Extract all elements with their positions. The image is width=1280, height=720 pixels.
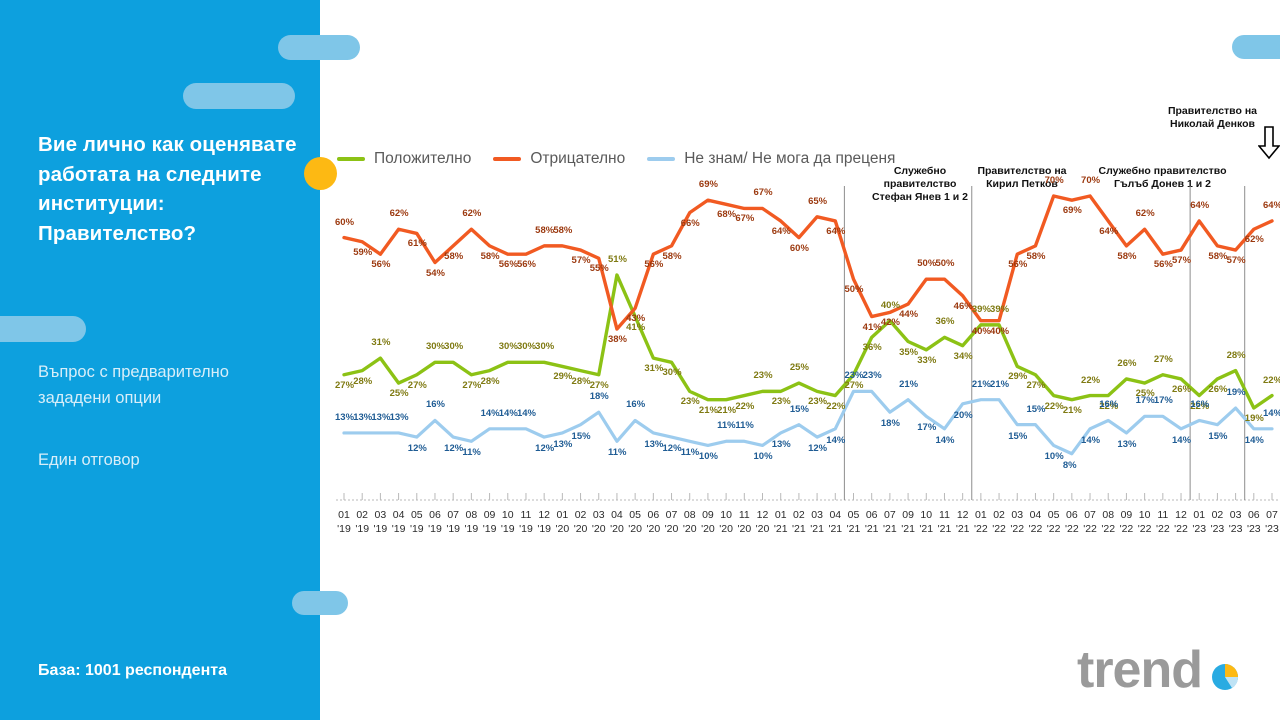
data-label-neg: 60% [335,217,354,228]
data-label-dk: 15% [790,404,809,415]
data-label-neg: 67% [735,213,754,224]
data-label-neg: 58% [553,225,572,236]
data-label-pos: 36% [863,342,882,353]
data-label-pos: 34% [954,351,973,362]
data-label-neg: 61% [408,238,427,249]
data-label-dk: 23% [844,370,863,381]
data-label-neg: 58% [444,251,463,262]
data-label-neg: 40% [990,326,1009,337]
data-label-dk: 16% [626,399,645,410]
data-label-dk: 13% [371,412,390,423]
data-label-dk: 10% [754,451,773,462]
series-line-0 [344,275,1272,408]
data-label-neg: 65% [808,196,827,207]
data-label-pos: 39% [972,304,991,315]
data-label-neg: 66% [681,218,700,229]
data-label-neg: 64% [1099,226,1118,237]
data-label-dk: 13% [335,412,354,423]
data-label-pos: 35% [899,347,918,358]
data-label-neg: 68% [717,209,736,220]
data-label-neg: 56% [644,259,663,270]
legend-item-positive: Положително [337,150,471,168]
data-label-neg: 50% [935,258,954,269]
legend-label-negative: Отрицателно [530,150,625,168]
data-label-pos: 29% [553,371,572,382]
data-label-pos: 31% [644,363,663,374]
data-label-neg: 58% [1208,251,1227,262]
data-label-pos: 23% [754,370,773,381]
data-label-pos: 26% [1208,384,1227,395]
data-label-pos: 28% [1227,350,1246,361]
data-label-pos: 36% [935,316,954,327]
data-label-neg: 38% [608,334,627,345]
data-label-neg: 57% [1227,255,1246,266]
svg-text:trend: trend [1077,641,1202,699]
data-label-pos: 27% [1026,380,1045,391]
legend-swatch-dontknow [647,157,675,161]
data-label-pos: 21% [699,405,718,416]
data-label-dk: 15% [1208,431,1227,442]
data-label-pos: 27% [335,380,354,391]
data-label-neg: 58% [481,251,500,262]
data-label-dk: 16% [1099,399,1118,410]
page-title: Вие лично как оценявате работата на след… [38,130,303,249]
data-label-pos: 21% [717,405,736,416]
down-arrow-icon [1258,126,1280,160]
data-label-neg: 54% [426,268,445,279]
data-label-pos: 27% [844,380,863,391]
data-label-neg: 70% [1081,175,1100,186]
data-label-pos: 22% [1263,375,1280,386]
data-label-neg: 62% [1245,234,1264,245]
data-label-dk: 14% [499,408,518,419]
data-label-pos: 21% [1063,405,1082,416]
legend-label-positive: Положително [374,150,471,168]
data-label-neg: 58% [535,225,554,236]
data-label-pos: 25% [390,388,409,399]
data-label-neg: 69% [1063,205,1082,216]
data-label-dk: 17% [917,422,936,433]
data-label-pos: 27% [408,380,427,391]
data-label-neg: 58% [663,251,682,262]
data-label-neg: 56% [517,259,536,270]
trend-logo: trend [1075,640,1260,702]
data-label-dk: 20% [954,410,973,421]
data-label-dk: 11% [462,447,481,458]
data-label-dk: 12% [535,443,554,454]
legend-item-dontknow: Не знам/ Не мога да преценя [647,150,895,168]
legend-swatch-positive [337,157,365,161]
data-label-pos: 26% [1117,358,1136,369]
data-label-dk: 17% [1136,395,1155,406]
data-label-pos: 30% [499,341,518,352]
data-label-pos: 22% [735,401,754,412]
legend-item-negative: Отрицателно [493,150,625,168]
data-label-dk: 12% [444,443,463,454]
data-label-neg: 64% [826,226,845,237]
decorative-blob-a [183,83,295,109]
data-label-pos: 30% [426,341,445,352]
data-label-neg: 55% [590,263,609,274]
data-label-dk: 14% [935,435,954,446]
data-label-pos: 28% [353,376,372,387]
data-label-neg: 50% [844,284,863,295]
data-label-dk: 23% [863,370,882,381]
data-label-dk: 10% [1045,451,1064,462]
data-label-neg: 57% [572,255,591,266]
data-label-pos: 33% [917,355,936,366]
data-label-dk: 14% [1081,435,1100,446]
data-label-neg: 40% [972,326,991,337]
data-label-pos: 28% [572,376,591,387]
annotation-government-yanev: Служебно правителство Стефан Янев 1 и 2 [860,165,980,204]
decorative-blob-c [0,316,86,342]
data-label-neg: 64% [772,226,791,237]
data-label-pos: 22% [1045,401,1064,412]
data-label-pos: 28% [481,376,500,387]
data-label-neg: 42% [881,317,900,328]
data-label-dk: 8% [1063,460,1077,471]
data-label-dk: 21% [990,379,1009,390]
data-label-neg: 62% [390,208,409,219]
data-label-neg: 62% [1136,208,1155,219]
data-label-neg: 56% [371,259,390,270]
data-label-dk: 11% [681,447,700,458]
data-label-dk: 12% [663,443,682,454]
data-label-dk: 13% [553,439,572,450]
data-label-dk: 10% [699,451,718,462]
data-label-neg: 58% [1117,251,1136,262]
chart-legend: ПоложителноОтрицателноНе знам/ Не мога д… [337,150,917,168]
data-label-neg: 64% [1190,200,1209,211]
data-label-neg: 56% [1154,259,1173,270]
data-label-neg: 70% [1045,175,1064,186]
data-label-pos: 30% [517,341,536,352]
data-label-neg: 41% [863,322,882,333]
data-label-pos: 31% [371,337,390,348]
data-label-pos: 25% [790,362,809,373]
data-label-dk: 14% [1245,435,1264,446]
data-label-pos: 23% [681,396,700,407]
decorative-blob-e [1232,35,1280,59]
data-label-dk: 14% [481,408,500,419]
question-type-note: Въпрос с предварително зададени опции [38,360,298,411]
data-label-dk: 16% [426,399,445,410]
data-label-dk: 13% [1117,439,1136,450]
data-label-neg: 43% [626,313,645,324]
annotation-government-denkov: Правителство на Николай Денков [1150,105,1275,131]
data-label-dk: 12% [408,443,427,454]
data-label-pos: 39% [990,304,1009,315]
data-label-dk: 18% [881,418,900,429]
data-label-pos: 30% [663,367,682,378]
data-label-dk: 21% [899,379,918,390]
data-label-dk: 19% [1227,387,1246,398]
data-label-pos: 30% [535,341,554,352]
data-label-dk: 11% [735,420,754,431]
data-label-neg: 50% [917,258,936,269]
data-label-dk: 21% [972,379,991,390]
data-label-neg: 57% [1172,255,1191,266]
data-label-pos: 40% [881,300,900,311]
data-label-neg: 46% [954,301,973,312]
data-label-dk: 16% [1190,399,1209,410]
data-label-neg: 56% [499,259,518,270]
decorative-blob-b [278,35,360,60]
data-label-dk: 14% [826,435,845,446]
data-label-dk: 12% [808,443,827,454]
data-label-neg: 59% [353,247,372,258]
data-label-dk: 13% [390,412,409,423]
data-label-dk: 14% [517,408,536,419]
data-label-pos: 26% [1172,384,1191,395]
data-label-neg: 58% [1026,251,1045,262]
data-label-neg: 64% [1263,200,1280,211]
data-label-pos: 27% [1154,354,1173,365]
data-label-dk: 14% [1172,435,1191,446]
x-axis-tick-label: 07'23 [1261,508,1280,536]
data-label-pos: 29% [1008,371,1027,382]
decorative-blob-d [292,591,348,615]
data-label-neg: 67% [754,187,773,198]
data-label-dk: 15% [1026,404,1045,415]
data-label-dk: 14% [1263,408,1280,419]
data-label-pos: 23% [808,396,827,407]
data-label-pos: 23% [772,396,791,407]
data-label-pos: 22% [826,401,845,412]
x-axis-labels: 01'1902'1903'1904'1905'1906'1907'1908'19… [337,508,1277,546]
data-label-neg: 69% [699,179,718,190]
data-label-dk: 17% [1154,395,1173,406]
data-label-pos: 19% [1245,413,1264,424]
decorative-dot-icon [304,157,337,190]
data-label-dk: 15% [1008,431,1027,442]
data-label-neg: 56% [1008,259,1027,270]
data-label-pos: 27% [462,380,481,391]
data-label-dk: 13% [644,439,663,450]
series-line-1 [344,196,1272,329]
answer-type-note: Един отговор [38,448,298,474]
data-label-dk: 11% [608,447,627,458]
data-label-dk: 15% [572,431,591,442]
legend-swatch-negative [493,157,521,161]
data-label-dk: 18% [590,391,609,402]
data-label-dk: 13% [353,412,372,423]
data-label-dk: 13% [772,439,791,450]
data-label-neg: 44% [899,309,918,320]
data-label-neg: 62% [462,208,481,219]
annotation-government-donev: Служебно правителство Гълъб Донев 1 и 2 [1075,165,1250,191]
data-label-dk: 11% [717,420,736,431]
data-label-pos: 30% [444,341,463,352]
data-label-neg: 60% [790,243,809,254]
data-label-pos: 51% [608,254,627,265]
data-label-pos: 22% [1081,375,1100,386]
data-label-pos: 27% [590,380,609,391]
base-respondents-note: База: 1001 респондента [38,662,227,680]
